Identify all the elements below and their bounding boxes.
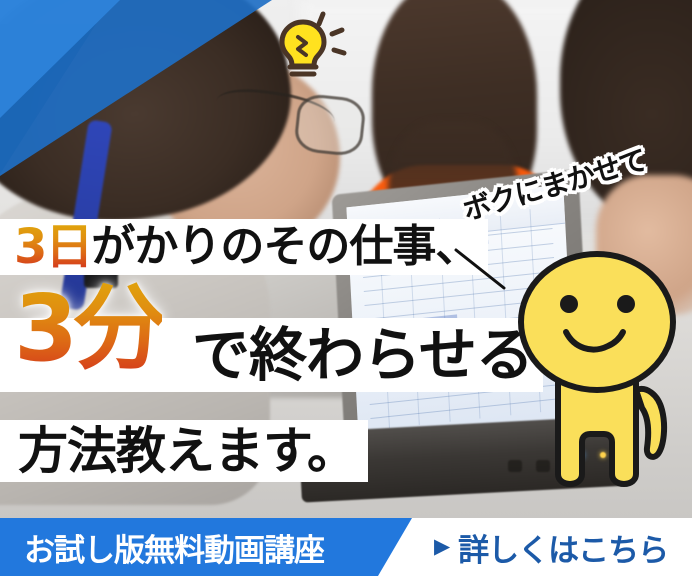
headline-number-3minutes: 3分	[14, 275, 162, 382]
headline-number-3days: 3日	[14, 223, 91, 271]
headline-number-3min-wrap: 3分	[14, 296, 162, 370]
cta-badge-label: お試し版無料動画講座	[24, 525, 324, 570]
cta-link[interactable]: ▶ 詳しくはこちら	[412, 518, 692, 576]
headline-band-1: 3日 がかりのその仕事、	[0, 219, 488, 275]
advertisement-banner: 3日 がかりのその仕事、 で終わらせる 3分 方法教えます。 ボクにまかせて	[0, 0, 692, 576]
cta-bar[interactable]: お試し版無料動画講座 ▶ 詳しくはこちら	[0, 518, 692, 576]
headline-line3-text: 方法教えます。	[18, 426, 356, 476]
headline-line2-text: で終わらせる	[192, 326, 533, 384]
cta-badge[interactable]: お試し版無料動画講座	[0, 518, 412, 576]
cta-arrow-icon: ▶	[434, 536, 450, 557]
mascot-eye-right	[617, 295, 635, 313]
headline-band-3: 方法教えます。	[0, 420, 368, 482]
headline-line1-text: がかりのその仕事、	[91, 225, 478, 269]
cta-link-label: 詳しくはこちら	[458, 525, 668, 570]
mascot-eye-left	[560, 295, 578, 313]
mascot-character	[496, 232, 692, 532]
